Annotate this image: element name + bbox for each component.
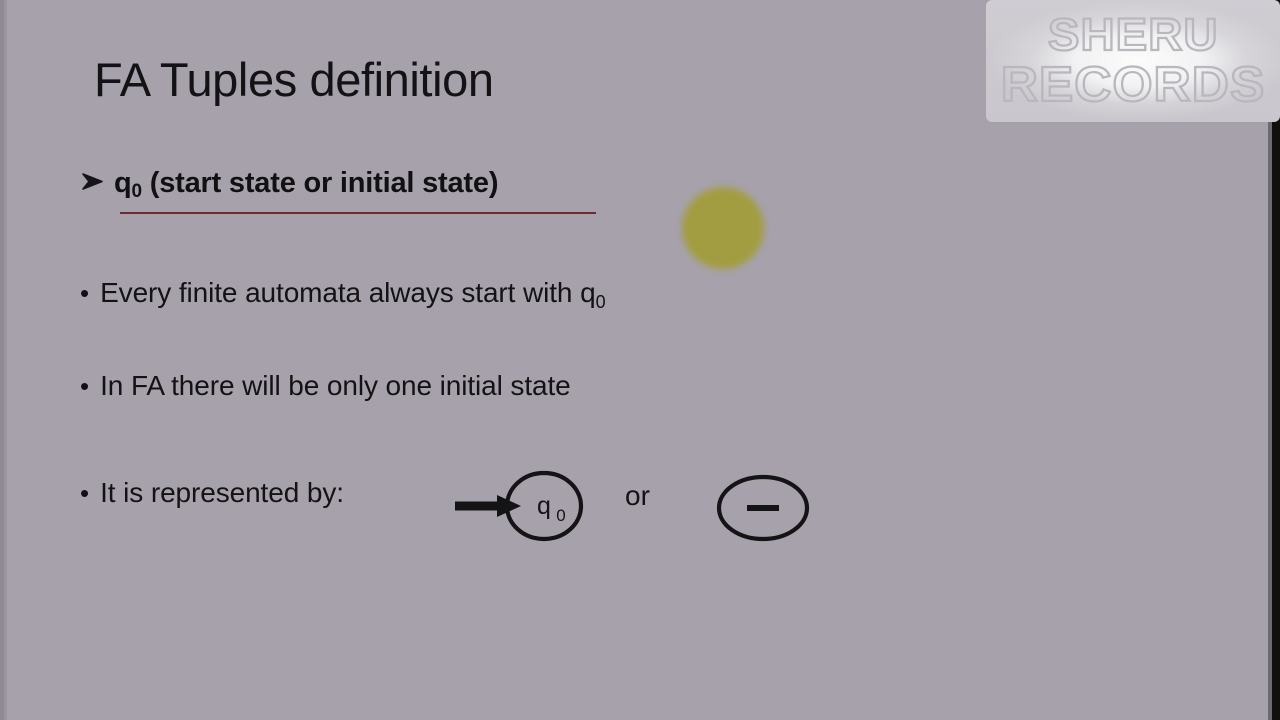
list-item-text: In FA there will be only one initial sta… bbox=[100, 370, 571, 401]
start-state-subscript: 0 bbox=[556, 506, 565, 525]
heading-description: (start state or initial state) bbox=[142, 167, 498, 199]
list-item: • It is represented by: bbox=[80, 474, 344, 512]
list-item-label: It is represented by: bbox=[100, 474, 344, 512]
laser-pointer-dot bbox=[682, 187, 764, 269]
bullet-marker: • bbox=[80, 475, 89, 511]
watermark: SHERU RECORDS bbox=[986, 0, 1280, 122]
heading-symbol: q bbox=[114, 167, 132, 199]
list-item: • In FA there will be only one initial s… bbox=[80, 367, 571, 405]
heading-underline bbox=[120, 212, 596, 214]
list-item-text: Every finite automata always start with … bbox=[100, 277, 595, 308]
slide-canvas: FA Tuples definition q0 (start state or … bbox=[0, 0, 1280, 720]
start-arrow-icon bbox=[455, 495, 521, 517]
list-item: • Every finite automata always start wit… bbox=[80, 274, 605, 315]
list-item-text: It is represented by: bbox=[100, 477, 344, 508]
connector-label: or bbox=[625, 478, 650, 514]
arrow-bullet-icon bbox=[80, 169, 106, 195]
list-item-label: Every finite automata always start with … bbox=[100, 274, 605, 315]
list-item-label: In FA there will be only one initial sta… bbox=[100, 367, 571, 405]
bullet-marker: • bbox=[80, 368, 89, 404]
heading-text: q0 (start state or initial state) bbox=[114, 164, 498, 206]
list-item-subscript: 0 bbox=[596, 292, 606, 312]
bullet-marker: • bbox=[80, 275, 89, 311]
watermark-line-1: SHERU bbox=[1048, 11, 1219, 59]
watermark-text: SHERU RECORDS bbox=[986, 0, 1280, 122]
heading-row: q0 (start state or initial state) bbox=[80, 164, 498, 206]
watermark-line-2: RECORDS bbox=[1001, 59, 1266, 111]
page-title: FA Tuples definition bbox=[94, 50, 494, 110]
start-state-label: q bbox=[537, 492, 551, 520]
left-edge-strip-inner bbox=[4, 0, 7, 720]
heading-subscript: 0 bbox=[132, 181, 142, 202]
